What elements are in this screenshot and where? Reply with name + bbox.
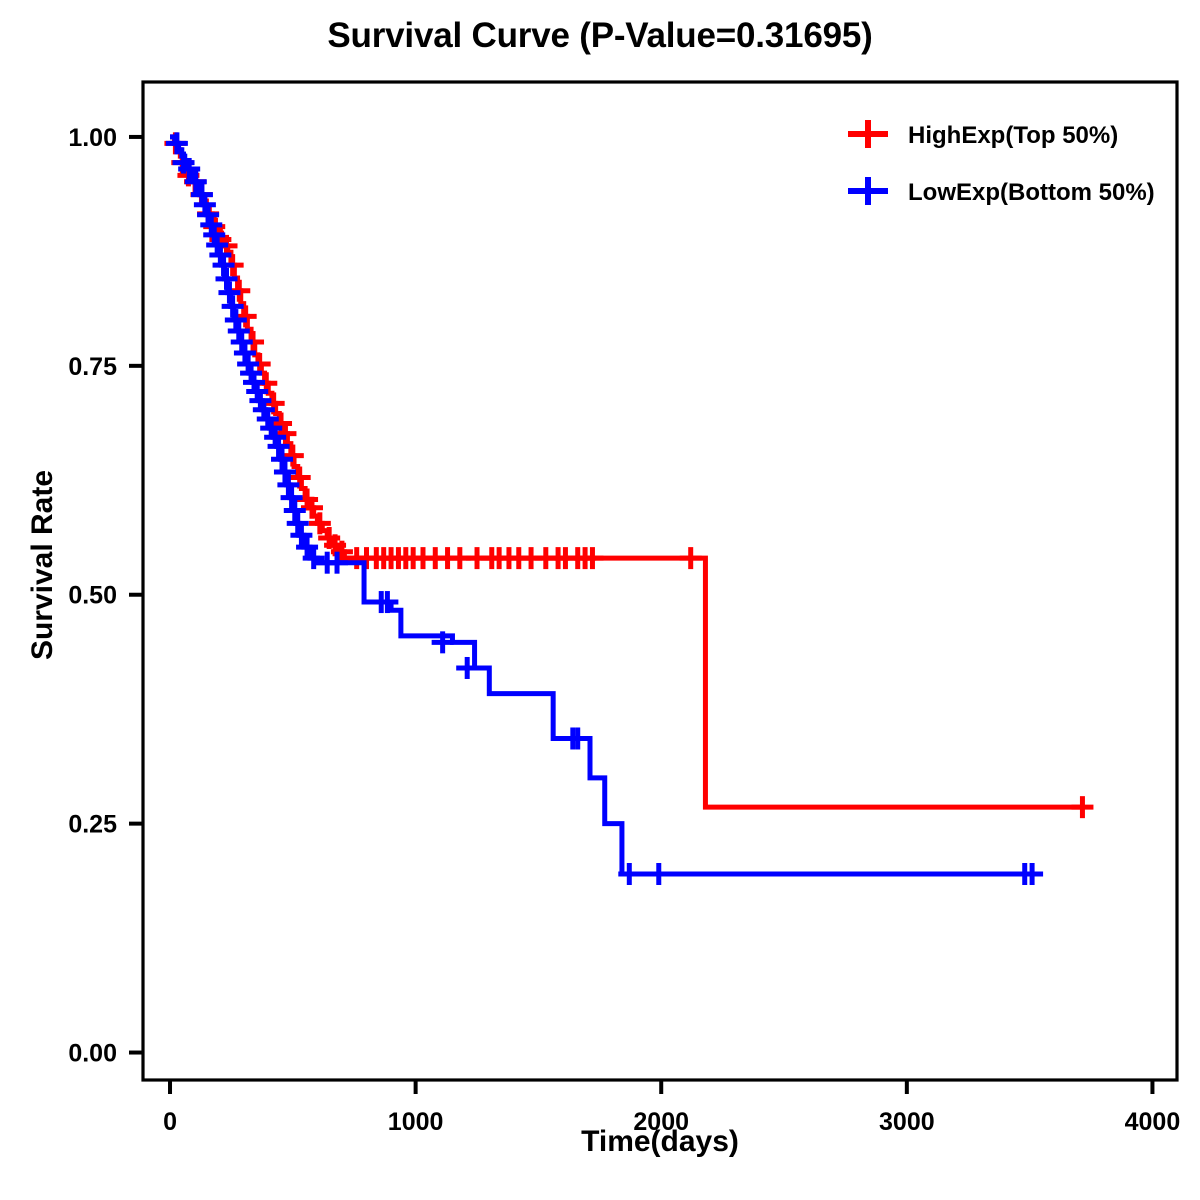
plus-marker-icon [848,177,888,205]
axis-frame [143,82,1177,1080]
y-tick-label: 1.00 [68,124,117,152]
plus-marker-icon [848,120,888,148]
plot-area: 01000200030004000 0.000.250.500.751.00 H… [0,0,1200,1200]
censor-marks [164,132,1093,818]
y-tick-label: 0.50 [68,582,117,610]
x-tick-label: 3000 [879,1108,935,1136]
legend-item-highexp[interactable]: HighExp(Top 50%) [848,120,1118,149]
y-tick-label: 0.75 [68,353,117,381]
series-lowexp [166,132,1043,885]
x-tick-label: 0 [163,1108,177,1136]
y-tick-label: 0.00 [68,1040,117,1068]
x-tick-label: 2000 [633,1108,689,1136]
legend-label: HighExp(Top 50%) [908,122,1118,149]
series-highexp [164,132,1093,818]
censor-marks [166,132,1043,885]
x-tick-label: 1000 [388,1108,444,1136]
y-tick-label: 0.25 [68,811,117,839]
survival-step-line [170,137,1035,874]
legend-item-lowexp[interactable]: LowExp(Bottom 50%) [848,177,1155,206]
legend-label: LowExp(Bottom 50%) [908,179,1155,206]
y-axis-ticks: 0.000.250.500.751.00 [68,124,143,1068]
survival-curve-figure: Survival Curve (P-Value=0.31695) Surviva… [0,0,1200,1200]
x-axis-ticks: 01000200030004000 [163,1080,1180,1136]
x-tick-label: 4000 [1125,1108,1181,1136]
survival-step-line [170,137,1084,807]
chart-legend: HighExp(Top 50%)LowExp(Bottom 50%) [848,120,1155,206]
series-layer [164,132,1093,885]
